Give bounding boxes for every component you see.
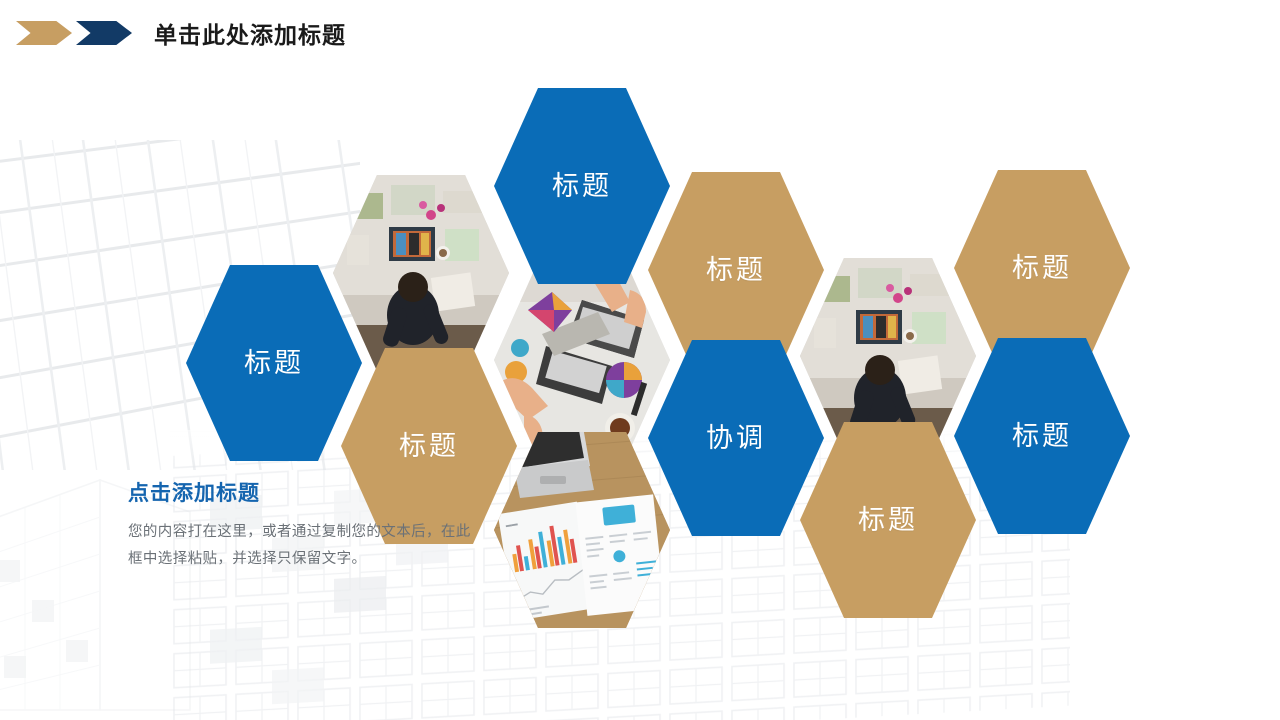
hex-center-blue[interactable]: 协调 xyxy=(648,340,824,536)
caption-text-block: 点击添加标题 您的内容打在这里，或者通过复制您的文本后，在此框中选择粘贴，并选择… xyxy=(128,482,478,573)
laptop-with-charts-photo: ▬▬ xyxy=(494,432,670,628)
photo-hex-reports[interactable]: ▬▬ xyxy=(494,432,670,628)
hex-label: 协调 xyxy=(706,425,766,452)
hexagon-honeycomb: ▬▬ xyxy=(0,0,1280,720)
slide-canvas: 单击此处添加标题 xyxy=(0,0,1280,720)
caption-title[interactable]: 点击添加标题 xyxy=(128,482,478,505)
hex-upper-gold[interactable]: 标题 xyxy=(648,172,824,368)
photo-hex-desk-left[interactable] xyxy=(333,175,509,371)
hex-label: 标题 xyxy=(706,257,766,284)
hex-left-blue[interactable]: 标题 xyxy=(186,265,362,461)
hex-label: 标题 xyxy=(552,173,612,200)
hex-label: 标题 xyxy=(399,433,459,460)
caption-body[interactable]: 您的内容打在这里，或者通过复制您的文本后，在此框中选择粘贴，并选择只保留文字。 xyxy=(128,519,478,573)
hex-label: 标题 xyxy=(1012,255,1072,282)
hex-label: 标题 xyxy=(858,507,918,534)
desk-workspace-photo xyxy=(333,175,509,371)
hex-right-blue[interactable]: 标题 xyxy=(954,338,1130,534)
hex-label: 标题 xyxy=(1012,423,1072,450)
hex-top-center[interactable]: 标题 xyxy=(494,88,670,284)
hex-bottom-gold[interactable]: 标题 xyxy=(800,422,976,618)
photo-hex-laptops[interactable] xyxy=(494,262,670,458)
hex-label: 标题 xyxy=(244,350,304,377)
hands-on-laptops-photo xyxy=(494,262,670,458)
hex-far-right-gold[interactable]: 标题 xyxy=(954,170,1130,366)
